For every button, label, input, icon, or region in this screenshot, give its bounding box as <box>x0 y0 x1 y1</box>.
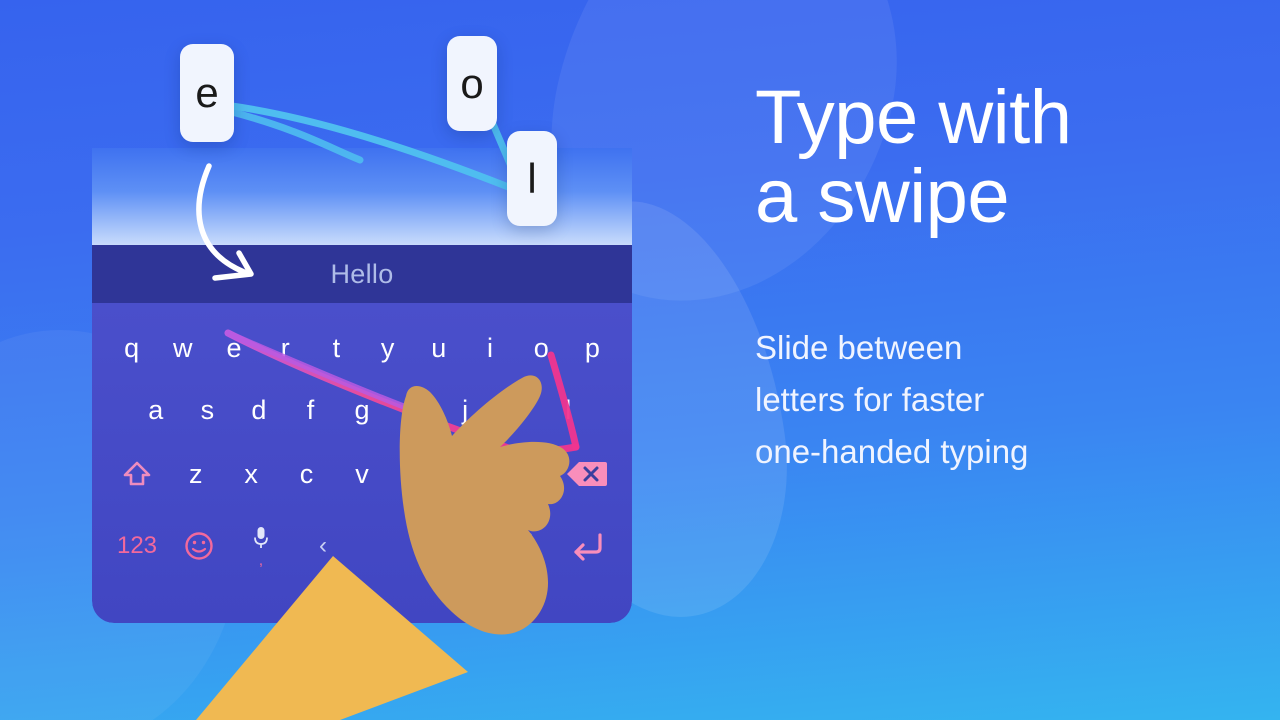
key-k[interactable]: k <box>491 379 543 441</box>
comma-label: , <box>259 553 263 568</box>
key-u[interactable]: u <box>413 317 464 379</box>
floating-key-e[interactable]: e <box>180 44 234 142</box>
subhead-line-2: letters for faster <box>755 374 1175 426</box>
key-r[interactable]: r <box>260 317 311 379</box>
floating-key-e-label: e <box>195 69 218 117</box>
mic-key[interactable]: , <box>230 525 292 568</box>
key-t[interactable]: t <box>311 317 362 379</box>
mic-icon <box>251 525 271 551</box>
suggestion-bar: Hello <box>92 245 632 303</box>
key-n[interactable]: n <box>445 443 500 505</box>
key-y[interactable]: y <box>362 317 413 379</box>
emoji-icon <box>183 530 215 562</box>
subhead-line-3: one-handed typing <box>755 426 1175 478</box>
suggestion-word[interactable]: Hello <box>330 259 393 290</box>
enter-icon <box>568 530 606 562</box>
punct-label: .!? <box>518 531 532 544</box>
promo-screenshot: Hello q w e r t y u i o p a s d f g h <box>0 0 1280 720</box>
keyboard-row-4: 123 , ‹ <box>92 511 632 581</box>
emoji-key[interactable] <box>168 515 230 577</box>
key-o[interactable]: o <box>516 317 567 379</box>
enter-key[interactable] <box>556 515 618 577</box>
headline-line-1: Type with <box>755 78 1215 157</box>
key-s[interactable]: s <box>182 379 234 441</box>
prev-key[interactable]: ‹ <box>292 515 354 577</box>
shift-icon <box>120 457 154 491</box>
keyboard-row-1: q w e r t y u i o p <box>92 317 632 379</box>
key-g[interactable]: g <box>336 379 388 441</box>
keyboard: q w e r t y u i o p a s d f g h j k l <box>92 303 632 623</box>
key-m[interactable]: m <box>501 443 556 505</box>
key-f[interactable]: f <box>285 379 337 441</box>
key-v[interactable]: v <box>334 443 389 505</box>
keyboard-row-2: a s d f g h j k l <box>92 379 632 441</box>
floating-key-o-label: o <box>460 60 483 108</box>
key-b[interactable]: b <box>390 443 445 505</box>
floating-key-l[interactable]: l <box>507 131 557 226</box>
keyboard-row-3: z x c v b n m <box>92 443 632 505</box>
page-subtitle: Slide between letters for faster one-han… <box>755 322 1175 478</box>
punctuation-key[interactable]: .!? . <box>494 531 556 561</box>
key-a[interactable]: a <box>130 379 182 441</box>
key-q[interactable]: q <box>106 317 157 379</box>
key-l[interactable]: l <box>543 379 595 441</box>
key-p[interactable]: p <box>567 317 618 379</box>
key-e[interactable]: e <box>208 317 259 379</box>
headline-line-2: a swipe <box>755 157 1215 236</box>
period-label: . <box>523 546 527 561</box>
floating-key-l-label: l <box>527 155 536 203</box>
key-w[interactable]: w <box>157 317 208 379</box>
key-d[interactable]: d <box>233 379 285 441</box>
key-h[interactable]: h <box>388 379 440 441</box>
backspace-key[interactable] <box>556 443 618 505</box>
next-key[interactable]: › <box>432 515 494 577</box>
key-i[interactable]: i <box>464 317 515 379</box>
shift-key[interactable] <box>106 443 168 505</box>
page-title: Type with a swipe <box>755 78 1215 236</box>
key-x[interactable]: x <box>223 443 278 505</box>
numeric-key[interactable]: 123 <box>106 532 168 560</box>
key-c[interactable]: c <box>279 443 334 505</box>
key-z[interactable]: z <box>168 443 223 505</box>
subhead-line-1: Slide between <box>755 322 1175 374</box>
backspace-icon <box>566 459 608 489</box>
key-j[interactable]: j <box>439 379 491 441</box>
floating-key-o[interactable]: o <box>447 36 497 131</box>
